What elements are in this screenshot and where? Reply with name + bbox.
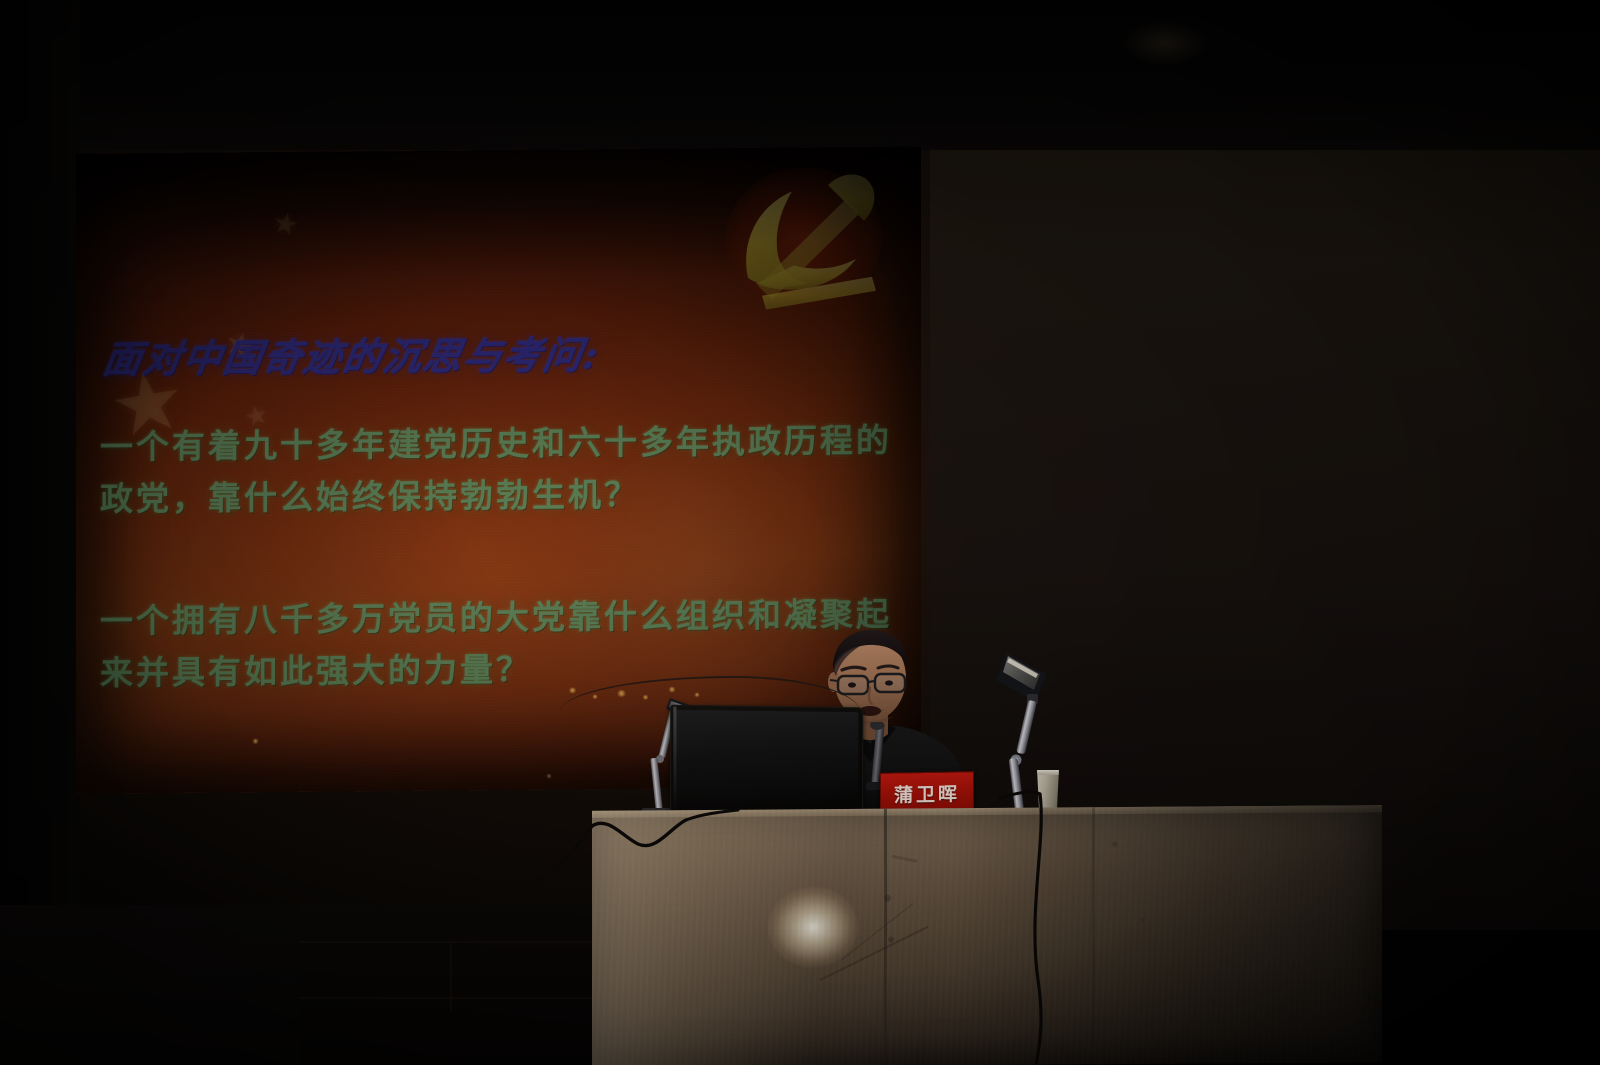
- stage-structure: [300, 905, 620, 1065]
- slide-paragraph-1: 一个有着九十多年建党历史和六十多年执政历程的政党，靠什么始终保持勃勃生机？: [100, 414, 900, 525]
- hammer-and-sickle-icon: [696, 154, 906, 316]
- laptop-edge-highlight: [673, 707, 676, 813]
- podium-shadow-right: [952, 805, 1382, 1065]
- paper-cup: [1035, 770, 1061, 812]
- laptop: [670, 705, 863, 818]
- slide-title: 面对中国奇迹的沉思与考问:: [100, 324, 605, 383]
- upper-wall-shadow: [0, 0, 1600, 150]
- light-speck: [252, 738, 259, 744]
- light-speck: [546, 774, 552, 779]
- podium: [592, 805, 1382, 1065]
- photo-scene: ★ ★ ★ ★: [0, 0, 1600, 1065]
- cup-rim: [1035, 770, 1061, 775]
- nameplate-text: 蒲卫晖: [894, 779, 960, 807]
- laptop-screen: [675, 710, 858, 804]
- ceiling-light-glow: [1120, 20, 1210, 66]
